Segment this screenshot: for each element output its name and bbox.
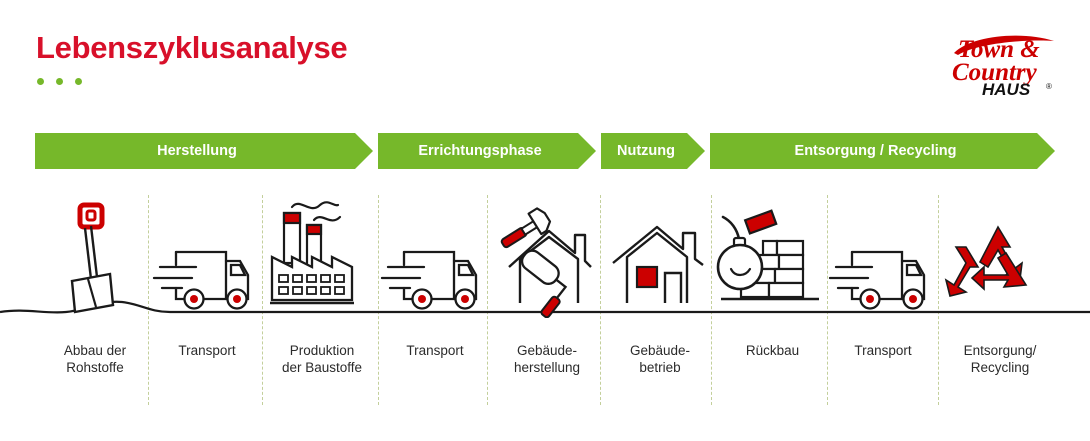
demolition-icon [715,195,830,318]
house-build-icon [487,195,607,318]
stage-entsorgung-recycling[interactable]: Entsorgung/ Recycling [940,195,1060,395]
stage-gebaeudebetrieb[interactable]: Gebäude- betrieb [605,195,715,395]
stage-transport-3[interactable]: Transport [828,195,938,395]
truck-icon [828,195,938,318]
stage-label: Transport [854,342,911,359]
stage-transport-2[interactable]: Transport [380,195,490,395]
stage-transport-1[interactable]: Transport [152,195,262,395]
stage-label: Gebäude- herstellung [514,342,580,376]
phase-banner-entsorgung-recycling[interactable]: Entsorgung / Recycling [710,133,1055,169]
green-dot-icon [56,78,63,85]
phase-banner-label: Errichtungsphase [418,143,541,159]
recycling-icon [940,195,1060,318]
stage-label: Produktion der Baustoffe [282,342,362,376]
phase-banner-nutzung[interactable]: Nutzung [601,133,705,169]
stage-label: Abbau der Rohstoffe [64,342,126,376]
stage-gebaeudeherstellung[interactable]: Gebäude- herstellung [487,195,607,395]
green-dot-icon [37,78,44,85]
stage-produktion-der-baustoffe[interactable]: Produktion der Baustoffe [262,195,382,395]
truck-icon [380,195,490,318]
lifecycle-infographic: Lebenszyklusanalyse Town & Country HAUS … [0,0,1090,441]
green-dot-icon [75,78,82,85]
stage-label: Rückbau [746,342,799,359]
stage-label: Transport [178,342,235,359]
stage-abbau-der-rohstoffe[interactable]: Abbau der Rohstoffe [30,195,160,395]
town-and-country-haus-logo: Town & Country HAUS ® [948,27,1066,99]
page-title: Lebenszyklusanalyse [36,30,347,66]
title-dots-decoration [37,78,82,85]
stage-rueckbau[interactable]: Rückbau [715,195,830,395]
lifecycle-stage-row: Abbau der Rohstoffe [0,169,1090,441]
phase-banner-label: Nutzung [617,143,675,159]
house-icon [605,195,715,318]
phase-banner-herstellung[interactable]: Herstellung [35,133,373,169]
phase-banner-label: Herstellung [157,143,237,159]
stage-label: Transport [406,342,463,359]
factory-icon [262,195,382,318]
stage-divider [938,195,939,405]
logo-line3: HAUS [982,80,1031,99]
stage-label: Entsorgung/ Recycling [964,342,1037,376]
phase-banner-label: Entsorgung / Recycling [795,143,957,159]
logo-trademark: ® [1046,82,1052,91]
phase-banner-errichtungsphase[interactable]: Errichtungsphase [378,133,596,169]
phase-banner-row: Herstellung Errichtungsphase Nutzung Ent… [0,133,1090,169]
stage-label: Gebäude- betrieb [630,342,690,376]
truck-icon [152,195,262,318]
shovel-icon [30,195,160,318]
